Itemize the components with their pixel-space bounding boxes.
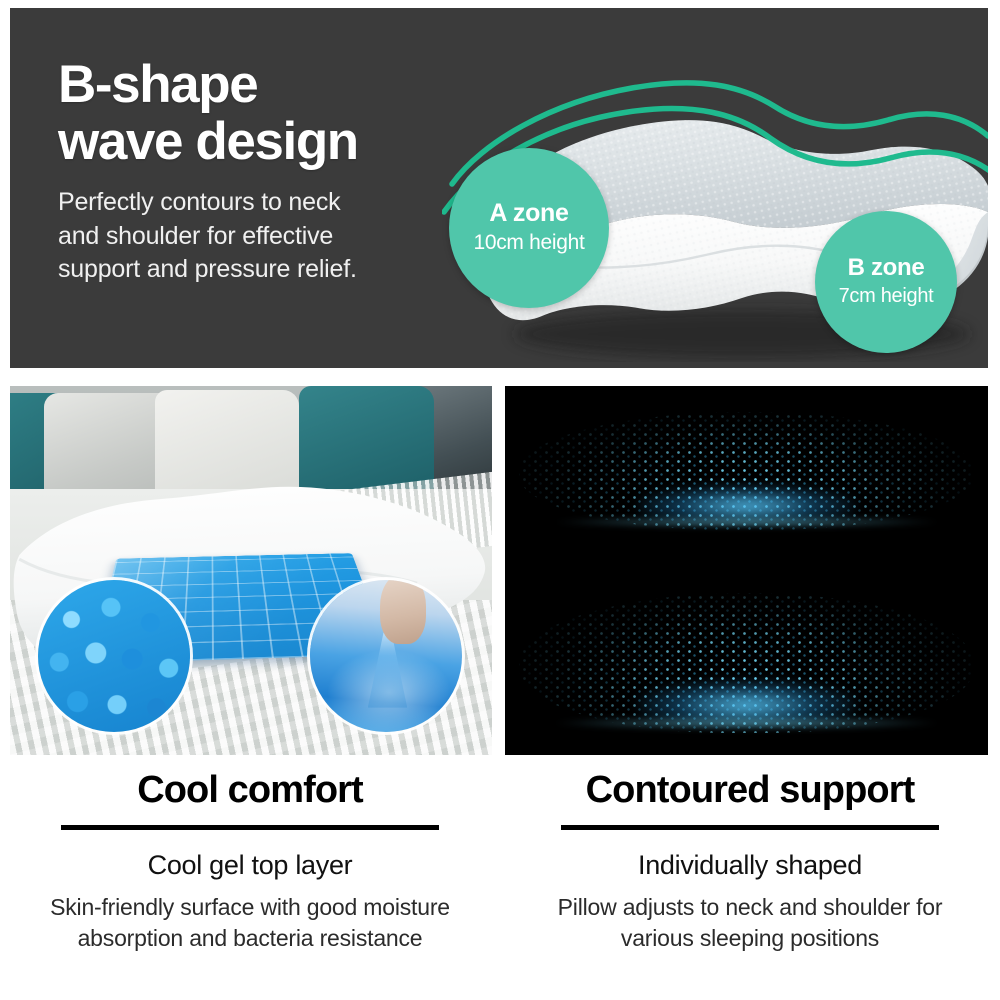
caption-divider — [61, 825, 439, 830]
caption-divider — [561, 825, 939, 830]
dark-scene — [505, 386, 988, 755]
zone-a-height: 10cm height — [473, 230, 584, 256]
caption-title: Cool comfort — [24, 770, 476, 812]
caption-subtitle: Cool gel top layer — [24, 850, 476, 881]
zone-a-name: A zone — [489, 200, 568, 228]
gel-pillow-photo — [10, 386, 492, 755]
photo-row — [10, 386, 988, 755]
gel-beads-texture — [38, 580, 190, 732]
glowing-pillow-bottom — [519, 593, 973, 733]
caption-contoured-support: Contoured support Individually shaped Pi… — [500, 770, 1000, 1000]
backlight-edge-top — [556, 516, 937, 528]
zone-b-name: B zone — [848, 255, 925, 281]
zone-badge-a: A zone 10cm height — [449, 148, 609, 308]
caption-cool-comfort: Cool comfort Cool gel top layer Skin-fri… — [0, 770, 500, 1000]
caption-body: Skin-friendly surface with good moisture… — [24, 892, 476, 954]
hero-subtitle: Perfectly contours to neck and shoulder … — [58, 186, 458, 286]
gel-press-inset — [310, 580, 462, 732]
finger — [380, 580, 426, 644]
gel-press-texture — [310, 580, 462, 732]
page-title: B-shape wave design — [58, 56, 458, 170]
backlit-perforation-photo — [505, 386, 988, 755]
gel-beads-inset — [38, 580, 190, 732]
backlight-edge-bottom — [556, 716, 937, 730]
glowing-pillow-top — [519, 412, 973, 530]
caption-row: Cool comfort Cool gel top layer Skin-fri… — [0, 770, 1000, 1000]
caption-title: Contoured support — [524, 770, 976, 812]
zone-b-height: 7cm height — [839, 284, 934, 309]
caption-subtitle: Individually shaped — [524, 850, 976, 881]
hero-banner: B-shape wave design Perfectly contours t… — [10, 8, 988, 368]
zone-badge-b: B zone 7cm height — [815, 211, 957, 353]
hero-text-block: B-shape wave design Perfectly contours t… — [58, 56, 458, 286]
caption-body: Pillow adjusts to neck and shoulder for … — [524, 892, 976, 954]
